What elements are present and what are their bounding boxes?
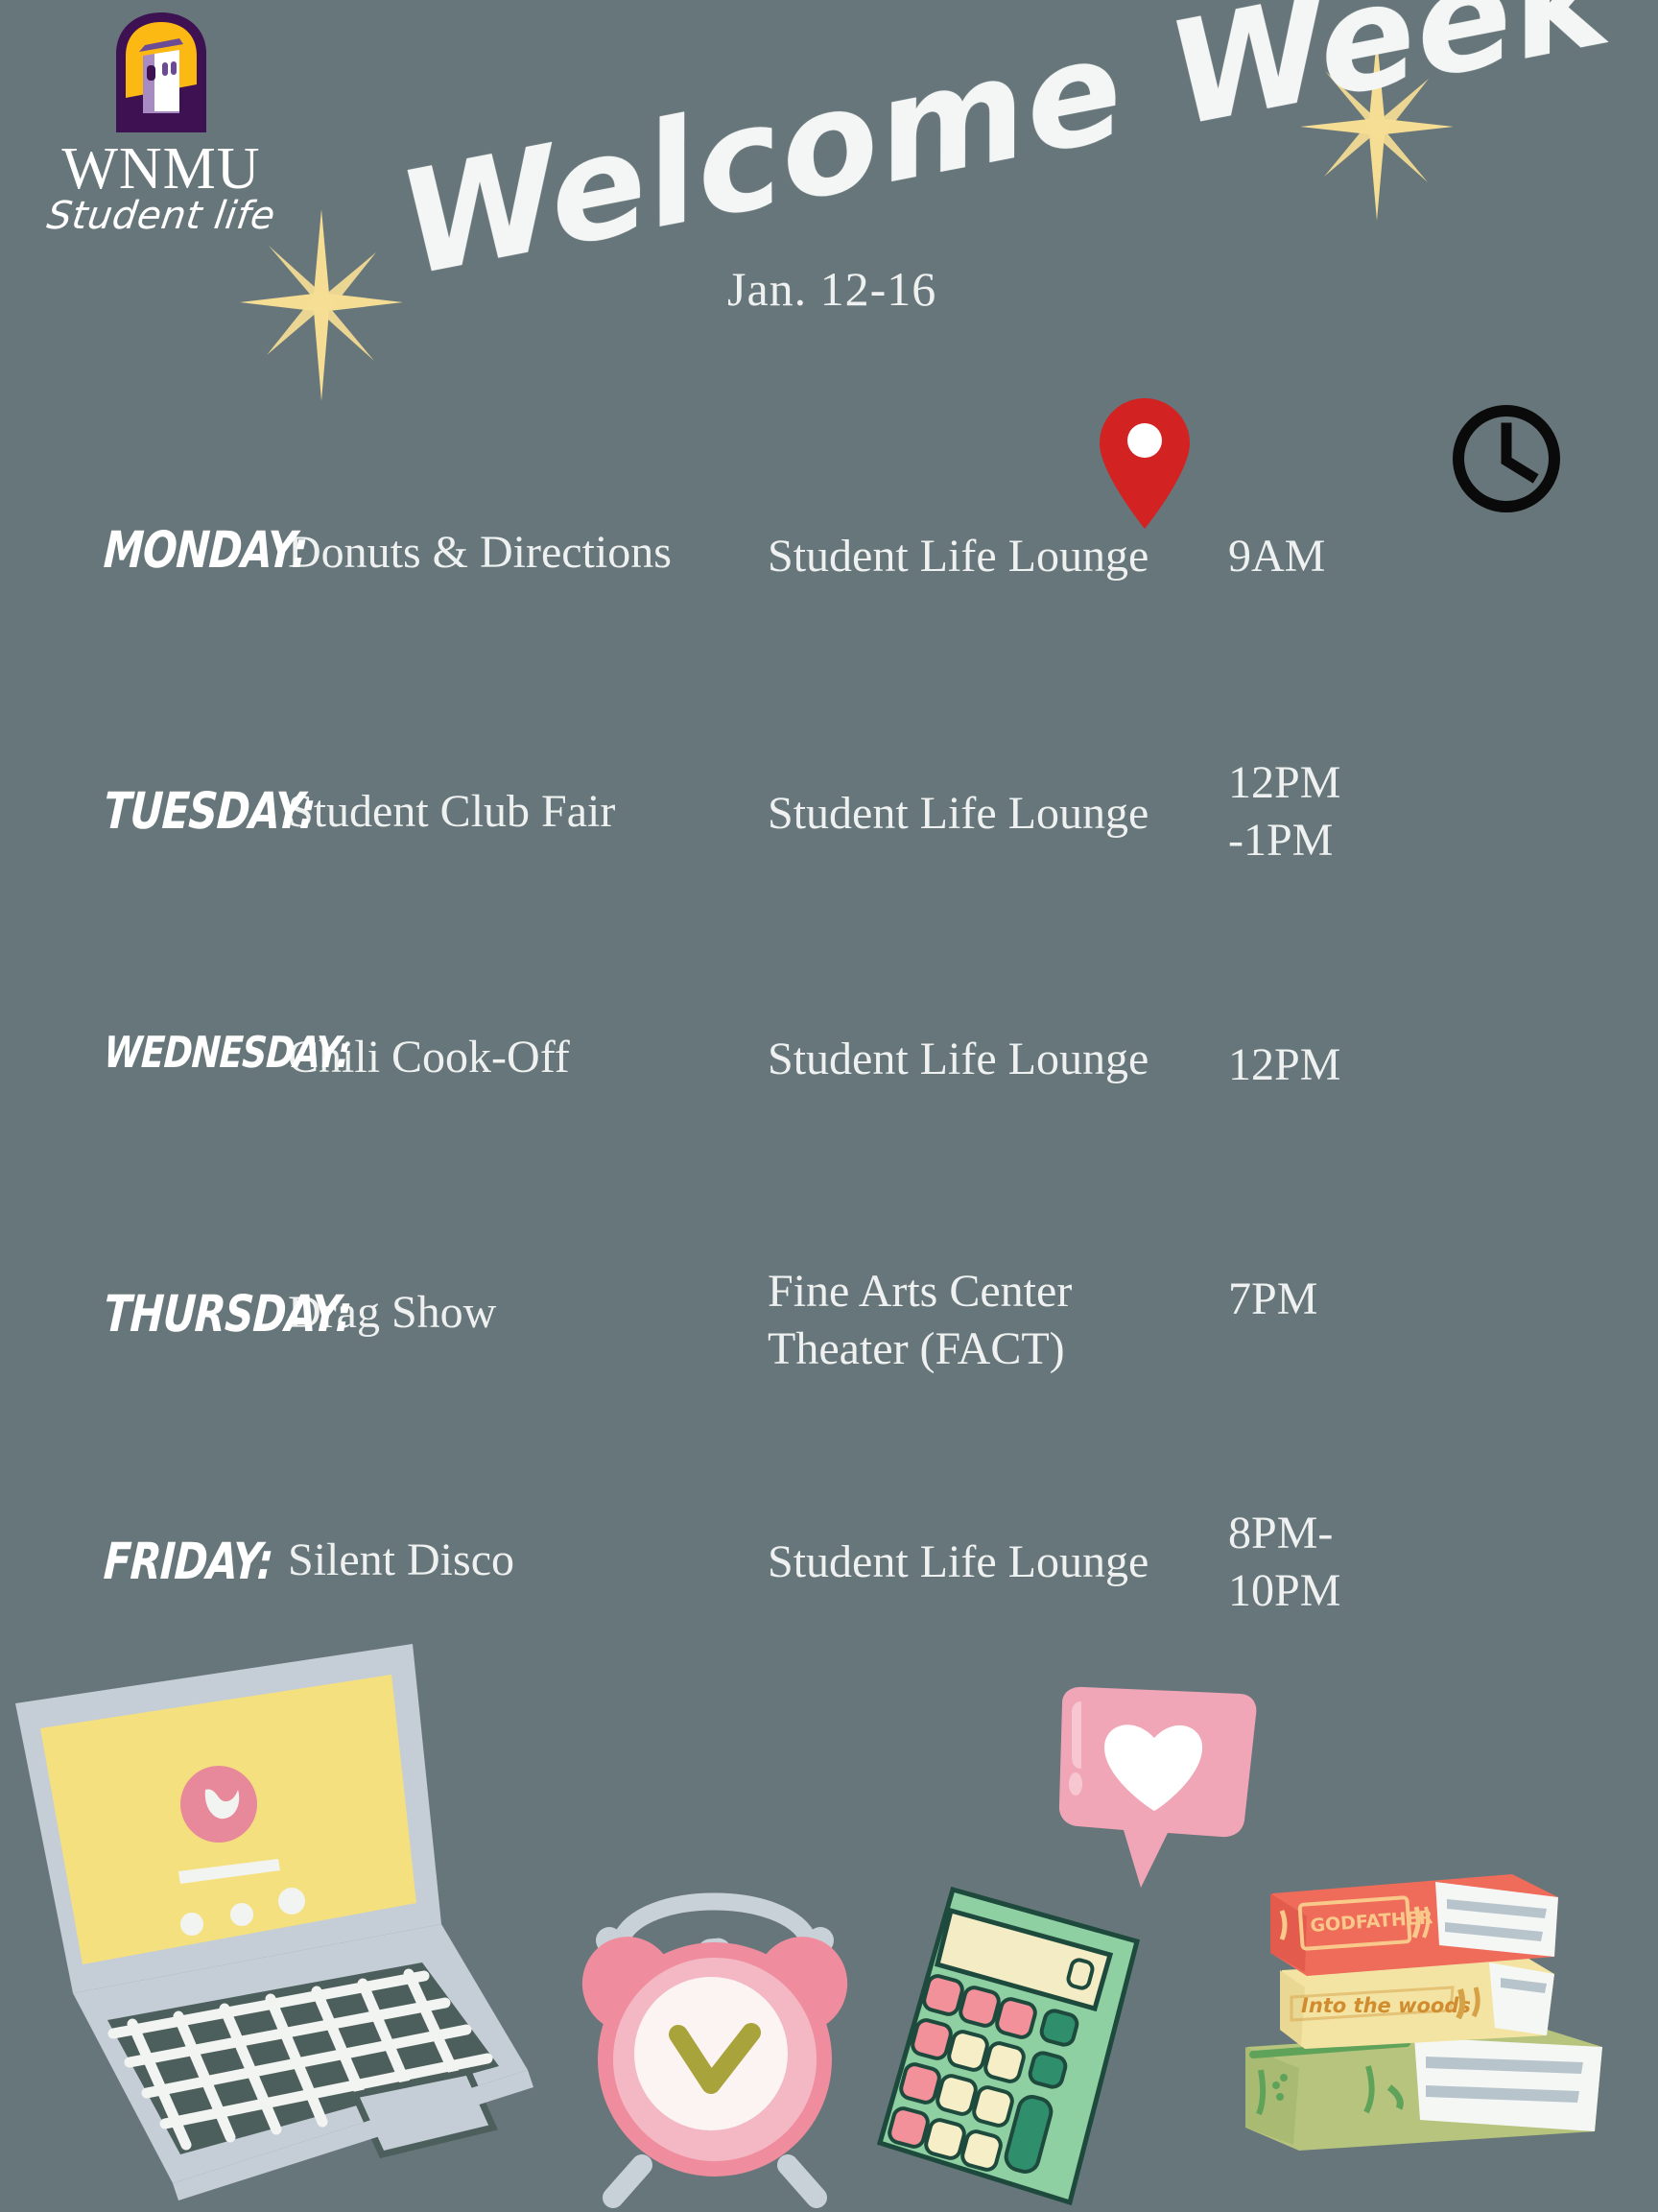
calculator-illustration — [868, 1886, 1147, 2211]
table-row: WEDNESDAY: Chili Cook-Off Student Life L… — [0, 998, 1658, 1248]
schedule-event-time: 7PM — [1228, 1271, 1658, 1328]
book-stack-illustration: Into the woods GODFATHER — [1238, 1857, 1658, 2211]
schedule-event-name: Silent Disco — [288, 1534, 768, 1586]
schedule-day-label: THURSDAY: — [0, 1284, 288, 1343]
schedule-event-location: Student Life Lounge — [768, 528, 1228, 585]
schedule-day-label: TUESDAY: — [0, 781, 288, 840]
schedule-day-label: MONDAY: — [0, 520, 288, 579]
schedule-event-time: 9AM — [1228, 528, 1658, 585]
schedule-event-location: Student Life Lounge — [768, 1534, 1228, 1591]
schedule-event-time: 8PM-10PM — [1228, 1505, 1658, 1620]
schedule-event-name: Donuts & Directions — [288, 526, 768, 579]
schedule-table: MONDAY: Donuts & Directions Student Life… — [0, 499, 1658, 1747]
schedule-event-name: Chili Cook-Off — [288, 1031, 768, 1083]
schedule-event-location: Fine Arts CenterTheater (FACT) — [768, 1263, 1228, 1378]
laptop-illustration — [0, 1636, 604, 2212]
book-title-text: Into the woods — [1301, 1994, 1471, 2017]
table-row: THURSDAY: Drag Show Fine Arts CenterThea… — [0, 1248, 1658, 1497]
schedule-event-location: Student Life Lounge — [768, 785, 1228, 843]
schedule-day-label: FRIDAY: — [0, 1532, 288, 1590]
schedule-event-location: Student Life Lounge — [768, 1031, 1228, 1088]
schedule-day-label: WEDNESDAY: — [0, 1029, 288, 1078]
table-row: MONDAY: Donuts & Directions Student Life… — [0, 499, 1658, 749]
poster-date: Jan. 12-16 — [727, 261, 936, 317]
schedule-event-name: Drag Show — [288, 1286, 768, 1339]
schedule-event-time: 12PM — [1228, 1036, 1658, 1094]
table-row: TUESDAY: Student Club Fair Student Life … — [0, 749, 1658, 998]
heart-speech-bubble-illustration — [1041, 1684, 1271, 1905]
schedule-event-time: 12PM-1PM — [1228, 754, 1658, 869]
schedule-event-name: Student Club Fair — [288, 785, 768, 838]
alarm-clock-illustration — [571, 1881, 859, 2211]
sparkle-star-icon — [240, 209, 403, 401]
poster-header: Welcome Week Jan. 12-16 — [0, 0, 1658, 365]
